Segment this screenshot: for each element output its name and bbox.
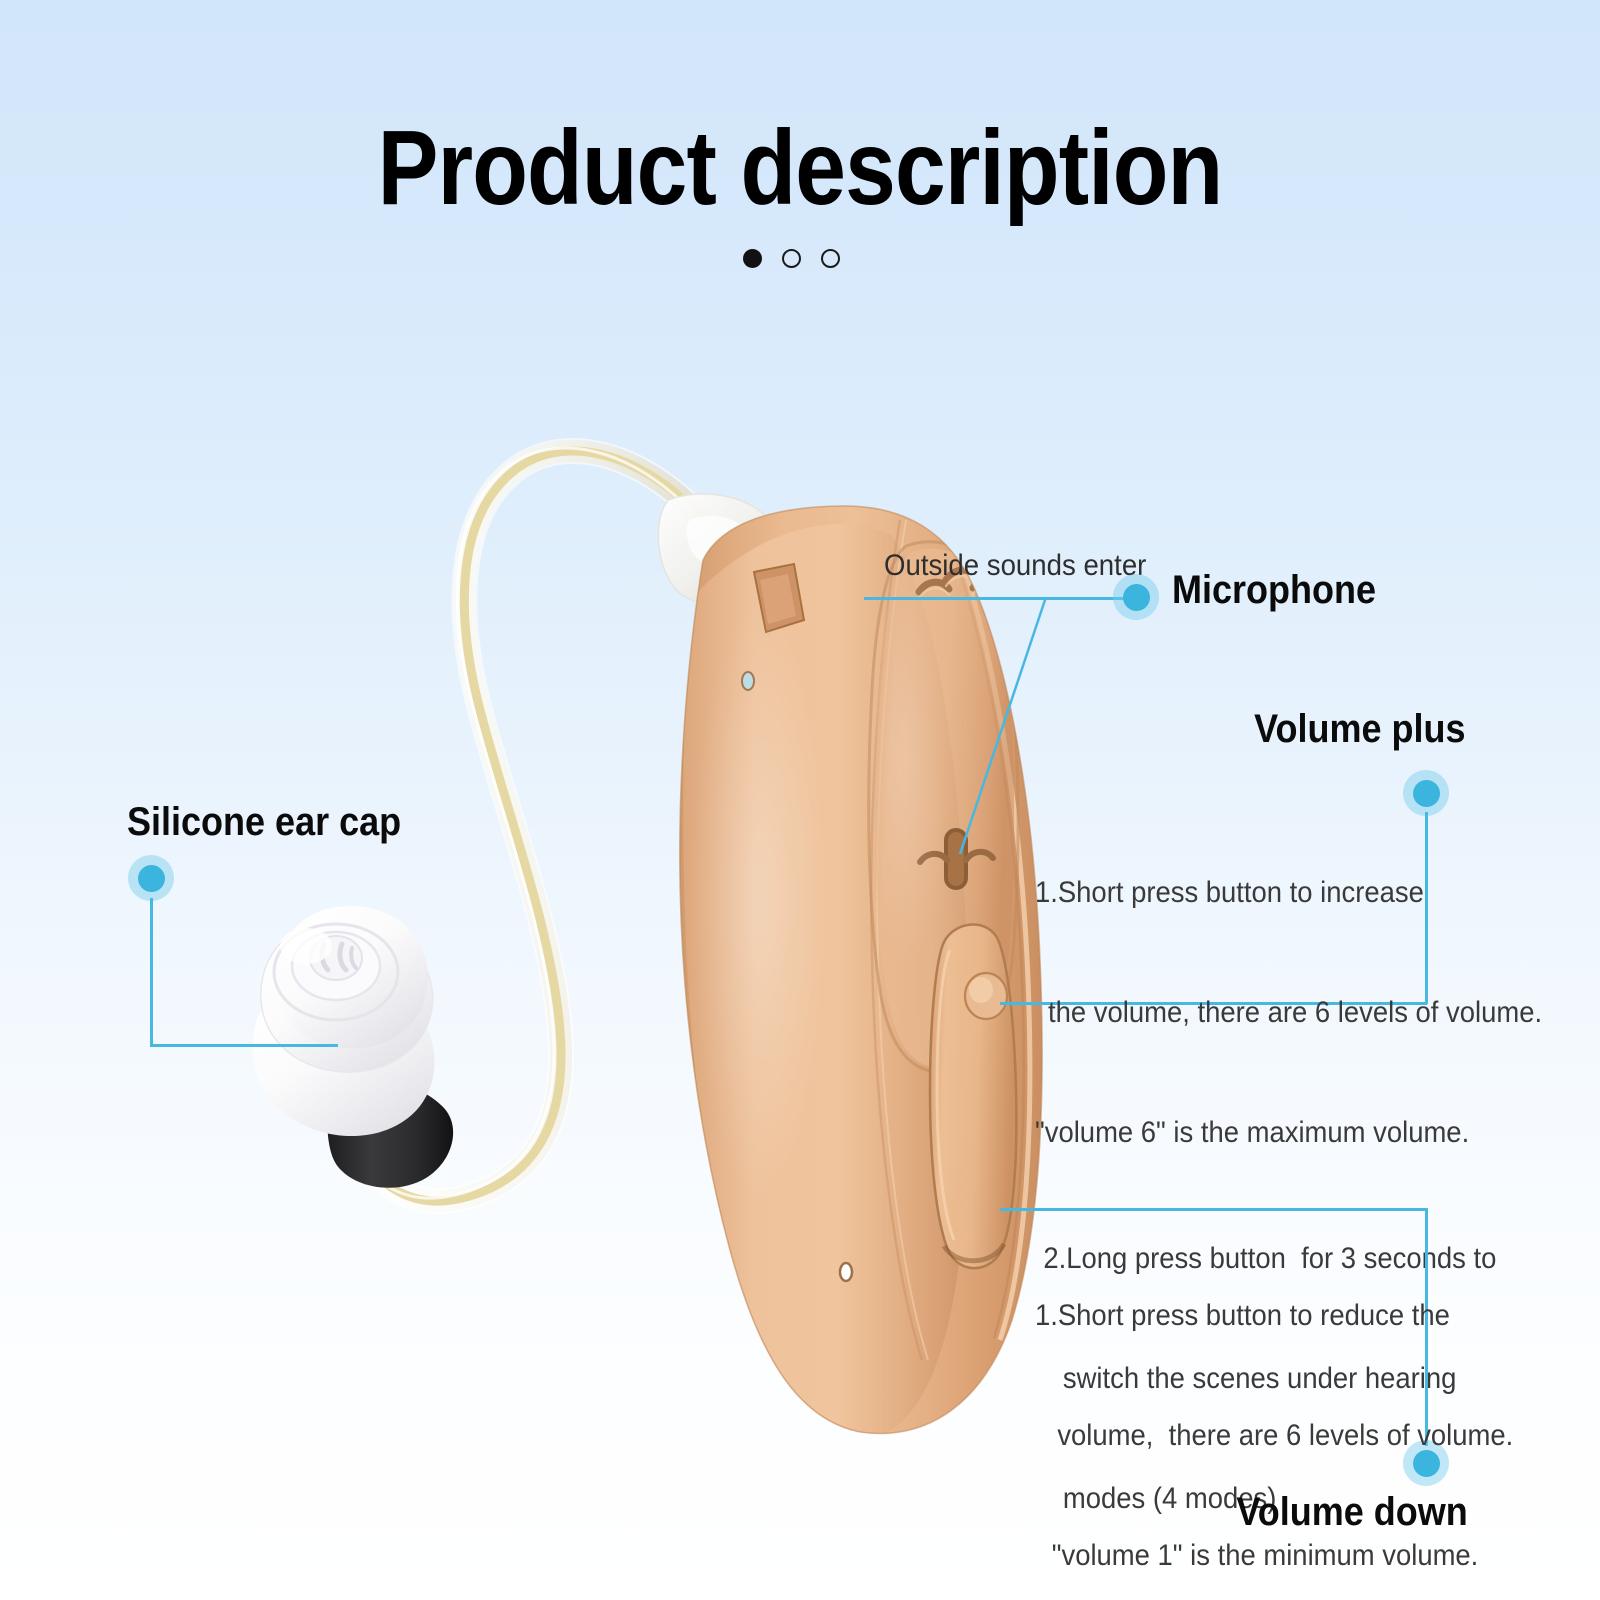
callout-heading-volume-plus: Volume plus (1254, 707, 1465, 752)
marker-microphone[interactable] (1113, 574, 1159, 620)
callout-heading-microphone: Microphone (1172, 568, 1376, 613)
volume-plus-line-1: 1.Short press button to increase (1035, 873, 1398, 913)
volume-plus-line-3: "volume 6" is the maximum volume. (1035, 1113, 1398, 1153)
leader-line-silicone-vertical (150, 898, 153, 1046)
leader-line-volume-plus-vertical (1425, 812, 1428, 1004)
infographic-canvas: Product description (0, 0, 1600, 1600)
callout-heading-silicone-ear-cap: Silicone ear cap (127, 800, 401, 845)
callout-body-volume-down: 1.Short press button to reduce the volum… (1035, 1216, 1425, 1600)
volume-down-line-2: volume, there are 6 levels of volume. (1035, 1416, 1398, 1456)
marker-silicone-ear-cap[interactable] (128, 855, 174, 901)
volume-plus-line-2: the volume, there are 6 levels of volume… (1035, 993, 1398, 1033)
volume-down-line-1: 1.Short press button to reduce the (1035, 1296, 1398, 1336)
silicone-ear-dome (253, 906, 453, 1188)
leader-line-silicone-horizontal (150, 1044, 338, 1047)
leader-line-volume-down-horizontal (1000, 1208, 1427, 1211)
volume-down-line-3: "volume 1" is the minimum volume. (1035, 1536, 1398, 1576)
battery-door-button (930, 925, 1016, 1269)
microphone-inline-note: Outside sounds enter (884, 549, 1146, 583)
